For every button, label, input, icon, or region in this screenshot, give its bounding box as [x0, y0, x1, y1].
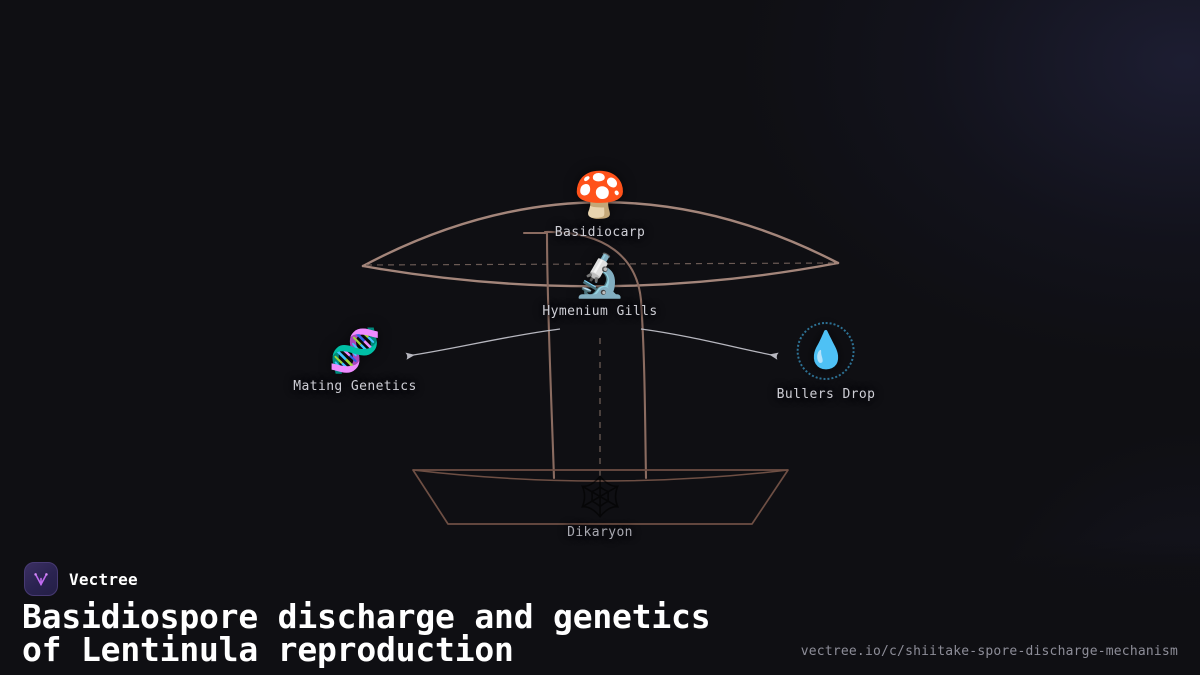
node-label-dikaryon: Dikaryon: [567, 525, 633, 540]
node-label-basidiocarp: Basidiocarp: [555, 225, 646, 240]
mushroom-diagram: [0, 0, 1200, 675]
mushroom-icon: 🍄: [573, 174, 628, 218]
node-label-bullers-drop: Bullers Drop: [777, 387, 876, 402]
node-hymenium-gills[interactable]: 🔬 Hymenium Gills: [542, 255, 657, 319]
brand: Vectree: [24, 562, 138, 596]
brand-name: Vectree: [69, 570, 138, 589]
droplet-icon: 💧: [804, 333, 849, 369]
node-basidiocarp[interactable]: 🍄 Basidiocarp: [555, 174, 646, 240]
site-url[interactable]: vectree.io/c/shiitake-spore-discharge-me…: [801, 644, 1178, 659]
node-label-mating-genetics: Mating Genetics: [293, 379, 416, 394]
spider-web-icon: 🕸: [573, 476, 626, 518]
canvas-root: 🍄 Basidiocarp 🔬 Hymenium Gills 🧬 Mating …: [0, 0, 1200, 675]
vectree-branch-logo-icon: [24, 562, 58, 596]
page-title-line-2: of Lentinula reproduction: [22, 633, 710, 666]
edge-hymenium-to-bullers-drop: [641, 329, 777, 356]
dna-icon: 🧬: [329, 330, 381, 372]
node-dikaryon[interactable]: 🕸 Dikaryon: [567, 476, 633, 540]
page-title: Basidiospore discharge and genetics of L…: [22, 600, 710, 666]
node-mating-genetics[interactable]: 🧬 Mating Genetics: [293, 330, 416, 394]
microscope-icon: 🔬: [574, 255, 626, 297]
edge-hymenium-to-mating-genetics: [407, 329, 560, 356]
node-label-hymenium-gills: Hymenium Gills: [542, 304, 657, 319]
node-bullers-drop[interactable]: 💧 Bullers Drop: [777, 322, 876, 402]
bullers-drop-ring: 💧: [797, 322, 855, 380]
